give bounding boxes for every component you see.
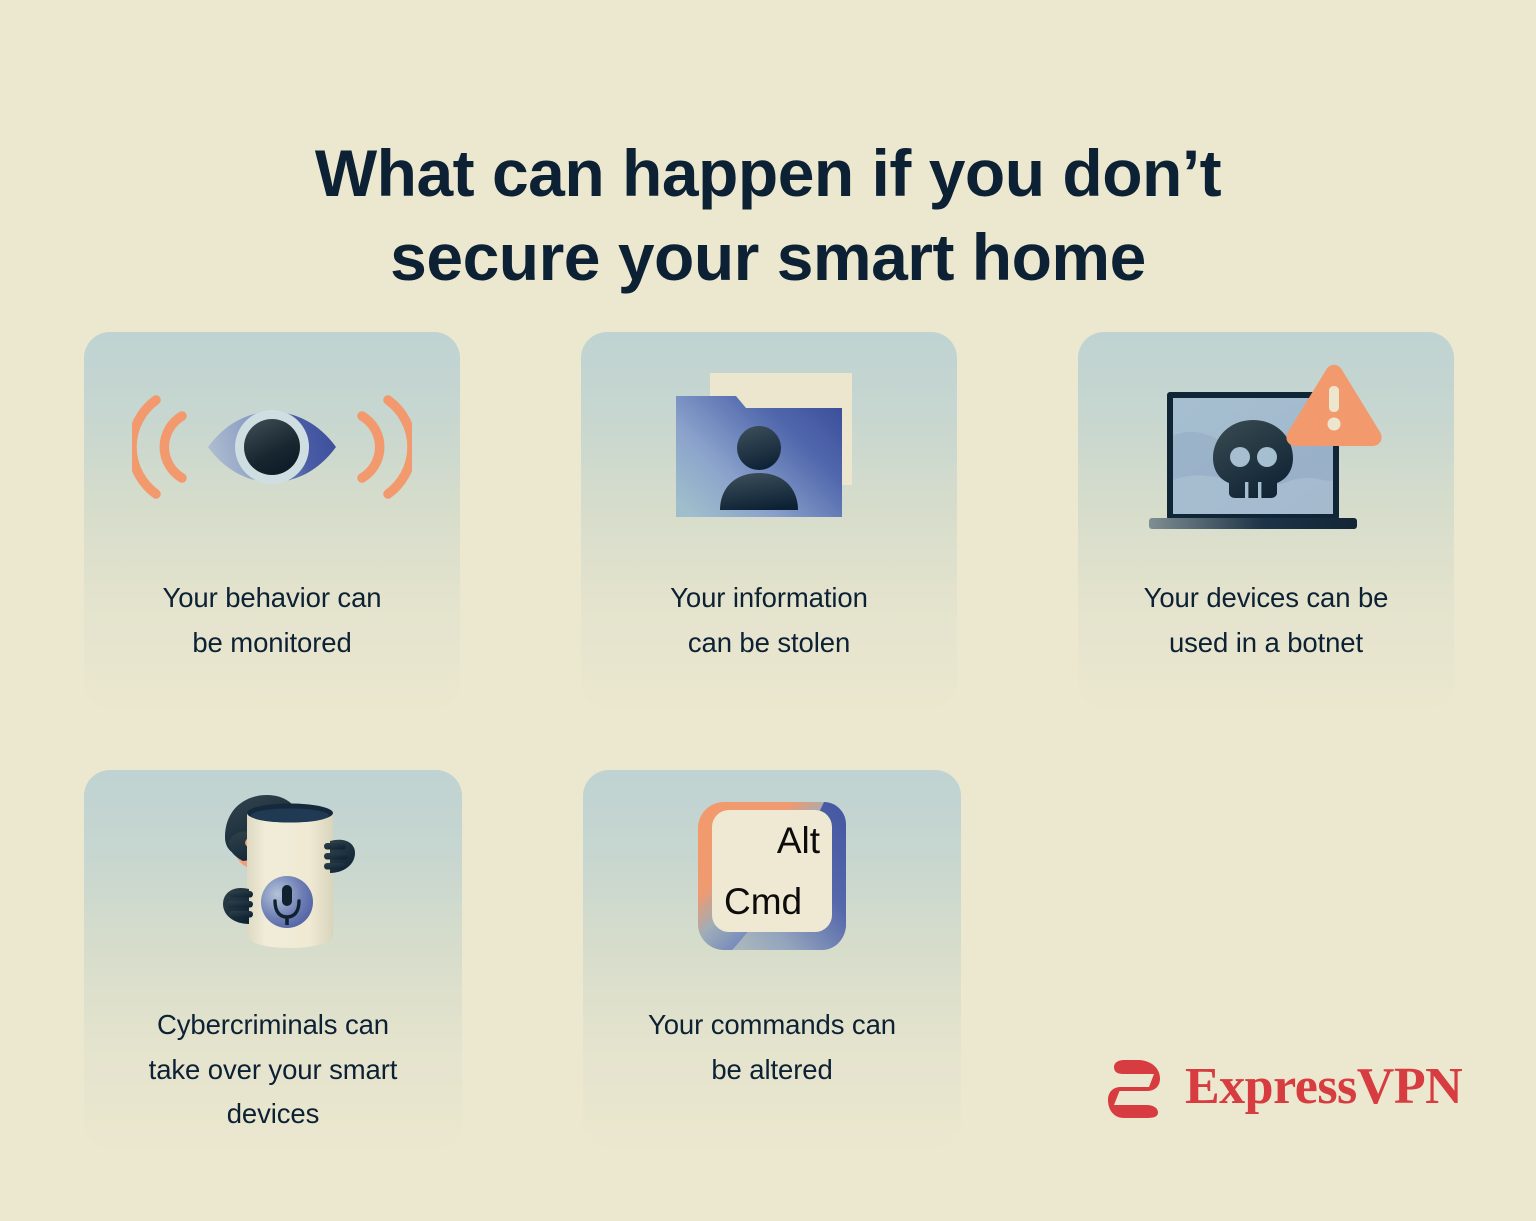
caption-line-1: Your devices can be [1144,582,1389,613]
signal-wave-left-icon [132,400,182,494]
card-caption: Your information can be stolen [652,576,886,665]
caption-line-2: used in a botnet [1169,627,1363,658]
signal-wave-right-icon [362,400,412,494]
key-label-cmd: Cmd [724,881,802,922]
expressvpn-wordmark: ExpressVPN [1185,1061,1462,1113]
card-cybercriminals-takeover: Cybercriminals can take over your smart … [84,770,462,1148]
caption-line-2: be altered [711,1054,832,1085]
cards-row-1: Your behavior can be monitored [84,332,1454,708]
skull-eye-right [1257,447,1277,467]
card-information-stolen: Your information can be stolen [581,332,957,708]
caption-line-2: be monitored [192,627,351,658]
burglar-smart-speaker-icon [181,785,366,970]
card-illustration: Alt Cmd [583,770,961,985]
caption-line-1: Your behavior can [163,582,382,613]
key-label-alt: Alt [777,820,821,861]
card-caption: Your devices can be used in a botnet [1126,576,1407,665]
microphone-button-icon [261,876,313,928]
page-title: What can happen if you don’t secure your… [0,132,1536,300]
cards-grid: Your behavior can be monitored [84,332,1454,1148]
card-caption: Your behavior can be monitored [145,576,400,665]
gloved-hand-right-icon [324,840,355,873]
page-title-line-1: What can happen if you don’t [0,132,1536,216]
card-caption: Your commands can be altered [630,1003,914,1092]
caption-line-3: devices [227,1098,320,1129]
keyboard-key-icon: Alt Cmd [692,798,852,958]
folder-with-person-icon [674,365,864,530]
laptop-skull-warning-icon [1141,360,1391,535]
card-devices-botnet: Your devices can be used in a botnet [1078,332,1454,708]
caption-line-1: Your commands can [648,1009,896,1040]
caption-line-1: Your information [670,582,868,613]
expressvpn-e-logo-icon [1106,1056,1168,1118]
expressvpn-logo: ExpressVPN [1106,1056,1462,1118]
skull-eye-left [1230,447,1250,467]
card-caption: Cybercriminals can take over your smart … [131,1003,416,1137]
infographic-page: What can happen if you don’t secure your… [0,0,1536,1221]
card-commands-altered: Alt Cmd Your commands can be altered [583,770,961,1148]
caption-line-2: take over your smart [149,1054,398,1085]
caption-line-2: can be stolen [688,627,850,658]
gloved-hand-left-icon [223,888,253,924]
card-illustration [1078,332,1454,562]
page-title-line-2: secure your smart home [0,216,1536,300]
card-illustration [84,332,460,562]
card-illustration [581,332,957,562]
card-behavior-monitored: Your behavior can be monitored [84,332,460,708]
eye-with-signal-waves-icon [132,382,412,512]
caption-line-1: Cybercriminals can [157,1009,389,1040]
card-illustration [84,770,462,985]
